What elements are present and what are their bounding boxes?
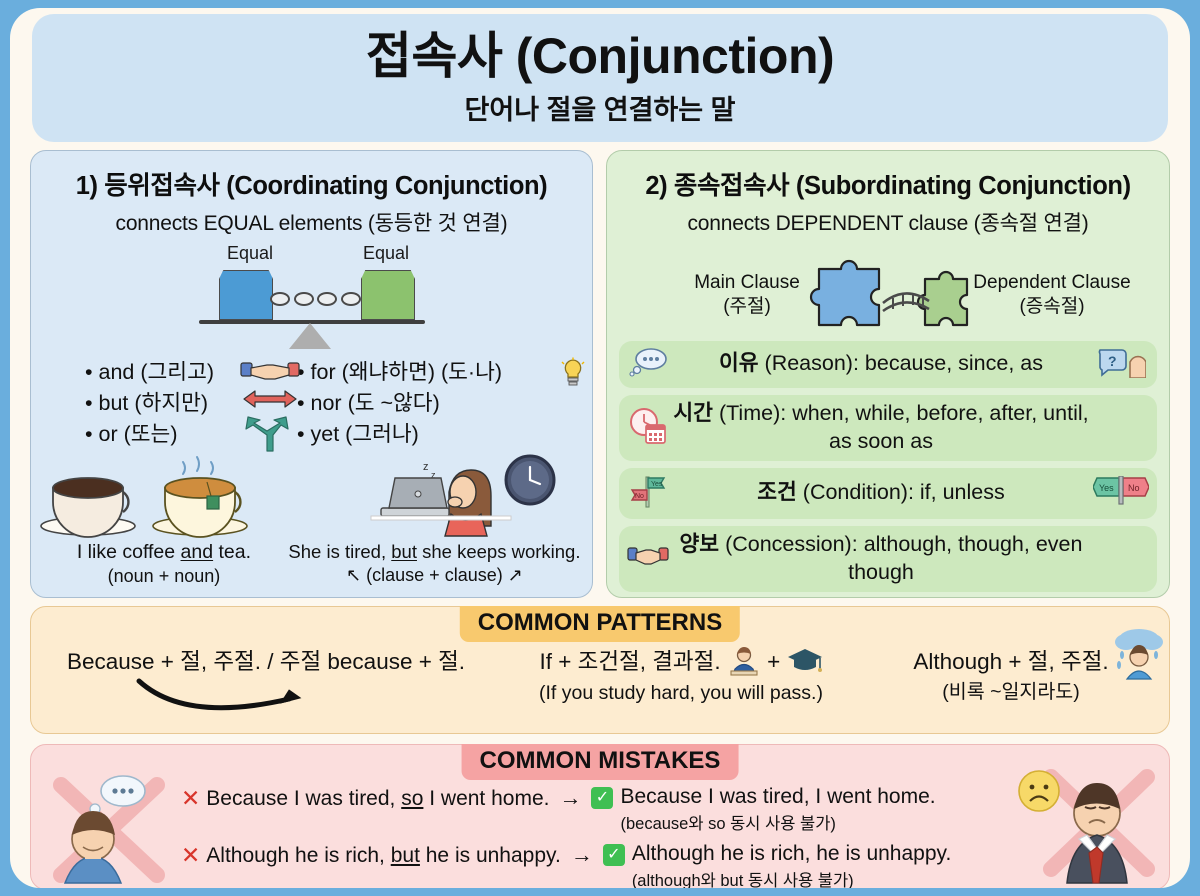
fork-arrow-icon xyxy=(246,417,288,451)
balance-scale-illustration: Equal Equal xyxy=(31,243,592,351)
puzzle-pieces-icon xyxy=(807,245,997,337)
bullet: • xyxy=(85,422,93,446)
list-item: • yet (그러나) xyxy=(297,419,553,450)
row-reason-text: 이유 (Reason): because, since, as xyxy=(669,350,1093,378)
conjunction-or: or (또는) xyxy=(99,422,178,446)
mistake-row: ✕ Although he is rich, but he is unhappy… xyxy=(181,842,1081,888)
tired-person-laptop-icon: z z z xyxy=(371,461,511,536)
thought-bubble-icon xyxy=(627,347,669,381)
svg-text:?: ? xyxy=(1108,353,1117,369)
arrow-icon: → xyxy=(559,785,581,811)
page-subtitle: 단어나 절을 연결하는 말 xyxy=(32,88,1168,127)
correct-text: Although he is rich, he is unhappy. xyxy=(632,842,951,866)
scale-left-label: Equal xyxy=(227,243,273,264)
x-icon: ✕ xyxy=(181,842,200,869)
yes-no-sign-icon: Yes No xyxy=(1093,476,1149,510)
row-time: 시간 (Time): when, while, before, after, u… xyxy=(619,395,1157,461)
list-item: • nor (도 ~않다) xyxy=(297,388,553,419)
check-icon: ✓ xyxy=(591,787,613,809)
clock-icon xyxy=(506,456,554,504)
two-way-arrow-icon xyxy=(244,391,296,407)
conjunction-yet: yet (그러나) xyxy=(311,422,419,446)
svg-text:No: No xyxy=(635,493,644,500)
right-arrow-icon: ↗ xyxy=(508,565,523,585)
row-reason: 이유 (Reason): because, since, as ? xyxy=(619,341,1157,388)
coordinating-title: 1) 등위접속사 (Coordinating Conjunction) xyxy=(31,165,592,202)
main-clause-label: Main Clause (주절) xyxy=(667,271,827,319)
svg-text:z: z xyxy=(423,461,429,473)
row-condition-text: 조건 (Condition): if, unless xyxy=(669,479,1093,507)
page-header: 접속사 (Conjunction) 단어나 절을 연결하는 말 xyxy=(32,14,1168,142)
tea-cup-icon xyxy=(153,457,247,537)
rain-cloud-person-icon xyxy=(1109,627,1167,681)
common-mistakes-band: COMMON MISTAKES xyxy=(30,744,1170,888)
conjunction-but: but (하지만) xyxy=(99,391,209,415)
mistake-row: ✕ Because I was tired, so I went home. →… xyxy=(181,785,1081,834)
coordinating-conjunction-panel: 1) 등위접속사 (Coordinating Conjunction) conn… xyxy=(30,150,593,598)
svg-text:No: No xyxy=(1128,483,1140,493)
curved-arrow-icon xyxy=(131,675,341,717)
handshake-icon xyxy=(627,545,669,573)
example-noun-noun: I like coffee and tea. (noun + noun) xyxy=(41,540,287,589)
chain-link-icon xyxy=(275,291,361,307)
question-head-icon: ? xyxy=(1093,346,1149,382)
coordinating-list-right: • for (왜냐하면) (도·나) • nor (도 ~않다) • yet (… xyxy=(297,357,553,450)
green-block-icon xyxy=(361,270,415,320)
patterns-row: Because + 절, 주절. / 주절 because + 절. If + … xyxy=(31,647,1169,706)
arrow-icon: → xyxy=(571,842,593,868)
common-mistakes-title: COMMON MISTAKES xyxy=(462,744,739,780)
puzzle-illustration: Main Clause (주절) Dependent Clause (증속절) xyxy=(607,241,1169,337)
coordinating-examples: I like coffee and tea. (noun + noun) She… xyxy=(31,540,592,589)
thinking-person-icon xyxy=(49,767,169,885)
correct-sentence: ✓ Because I was tired, I went home. (bec… xyxy=(591,785,935,834)
example-note: ↖ (clause + clause) ↗ xyxy=(287,564,582,587)
connector-icons-group xyxy=(239,359,301,455)
common-patterns-title: COMMON PATTERNS xyxy=(460,606,740,642)
coordinating-subtitle: connects EQUAL elements (동등한 것 연결) xyxy=(31,207,592,237)
subordinating-subtitle: connects DEPENDENT clause (종속절 연결) xyxy=(607,207,1169,237)
clock-calendar-icon xyxy=(627,407,669,449)
subordinating-title: 2) 종속접속사 (Subordinating Conjunction) xyxy=(607,165,1169,202)
correct-text: Because I was tired, I went home. xyxy=(620,785,935,809)
infographic-page: 접속사 (Conjunction) 단어나 절을 연결하는 말 1) 등위접속사… xyxy=(10,8,1190,888)
correct-note: (because와 so 동시 사용 불가) xyxy=(620,810,935,834)
left-arrow-icon: ↖ xyxy=(346,565,361,585)
row-time-text: 시간 (Time): when, while, before, after, u… xyxy=(669,400,1093,455)
x-icon: ✕ xyxy=(181,785,200,812)
blue-block-icon xyxy=(219,270,273,320)
example-sentence: She is tired, but she keeps working. xyxy=(287,540,582,564)
coffee-cup-icon xyxy=(41,478,135,537)
subordinating-conjunction-panel: 2) 종속접속사 (Subordinating Conjunction) con… xyxy=(606,150,1170,598)
common-patterns-band: COMMON PATTERNS Because + 절, 주절. / 주절 be… xyxy=(30,606,1170,734)
pattern-although: Although + 절, 주절. (비록 ~일지라도) xyxy=(861,647,1161,706)
coordinating-conjunction-lists: • and (그리고) • but (하지만) • or (또는) xyxy=(31,357,592,450)
conjunction-for: for (왜냐하면) (도·나) xyxy=(311,360,503,384)
example-note: (noun + noun) xyxy=(41,565,287,588)
scale-right-label: Equal xyxy=(363,243,409,264)
student-icon xyxy=(727,647,761,677)
row-concession-text: 양보 (Concession): although, though, even … xyxy=(669,531,1093,586)
list-item: • for (왜냐하면) (도·나) xyxy=(297,357,553,388)
page-title: 접속사 (Conjunction) xyxy=(32,28,1168,84)
row-concession: 양보 (Concession): although, though, even … xyxy=(619,526,1157,592)
pattern-if: If + 조건절, 결과절. + (If you xyxy=(501,647,861,706)
pattern-because: Because + 절, 주절. / 주절 because + 절. xyxy=(31,647,501,676)
main-columns: 1) 등위접속사 (Coordinating Conjunction) conn… xyxy=(30,150,1170,598)
lightbulb-icon xyxy=(560,357,586,389)
example-clause-clause: She is tired, but she keeps working. ↖ (… xyxy=(287,540,582,589)
correct-sentence: ✓ Although he is rich, he is unhappy. (a… xyxy=(603,842,951,888)
conjunction-and: and (그리고) xyxy=(99,360,215,384)
bullet: • xyxy=(85,360,93,384)
wrong-sentence: ✕ Although he is rich, but he is unhappy… xyxy=(181,842,561,869)
wrong-sentence: ✕ Because I was tired, so I went home. xyxy=(181,785,549,812)
signpost-icon: Yes No xyxy=(627,473,669,513)
handshake-icon xyxy=(241,363,299,379)
row-condition: Yes No 조건 (Condition): if, unless Yes xyxy=(619,468,1157,519)
example-sentence: I like coffee and tea. xyxy=(41,540,287,565)
bullet: • xyxy=(85,391,93,415)
scale-fulcrum xyxy=(289,323,331,349)
graduation-cap-icon xyxy=(787,647,823,675)
check-icon: ✓ xyxy=(603,844,625,866)
mistakes-list: ✕ Because I was tired, so I went home. →… xyxy=(181,785,1081,888)
left-panel-illustrations: z z z xyxy=(31,452,592,538)
svg-text:Yes: Yes xyxy=(1099,483,1114,493)
correct-note: (although와 but 동시 사용 불가) xyxy=(632,867,951,888)
subordinating-type-rows: 이유 (Reason): because, since, as ? xyxy=(607,341,1169,592)
conjunction-nor: nor (도 ~않다) xyxy=(311,391,440,415)
svg-text:Yes: Yes xyxy=(651,481,663,488)
